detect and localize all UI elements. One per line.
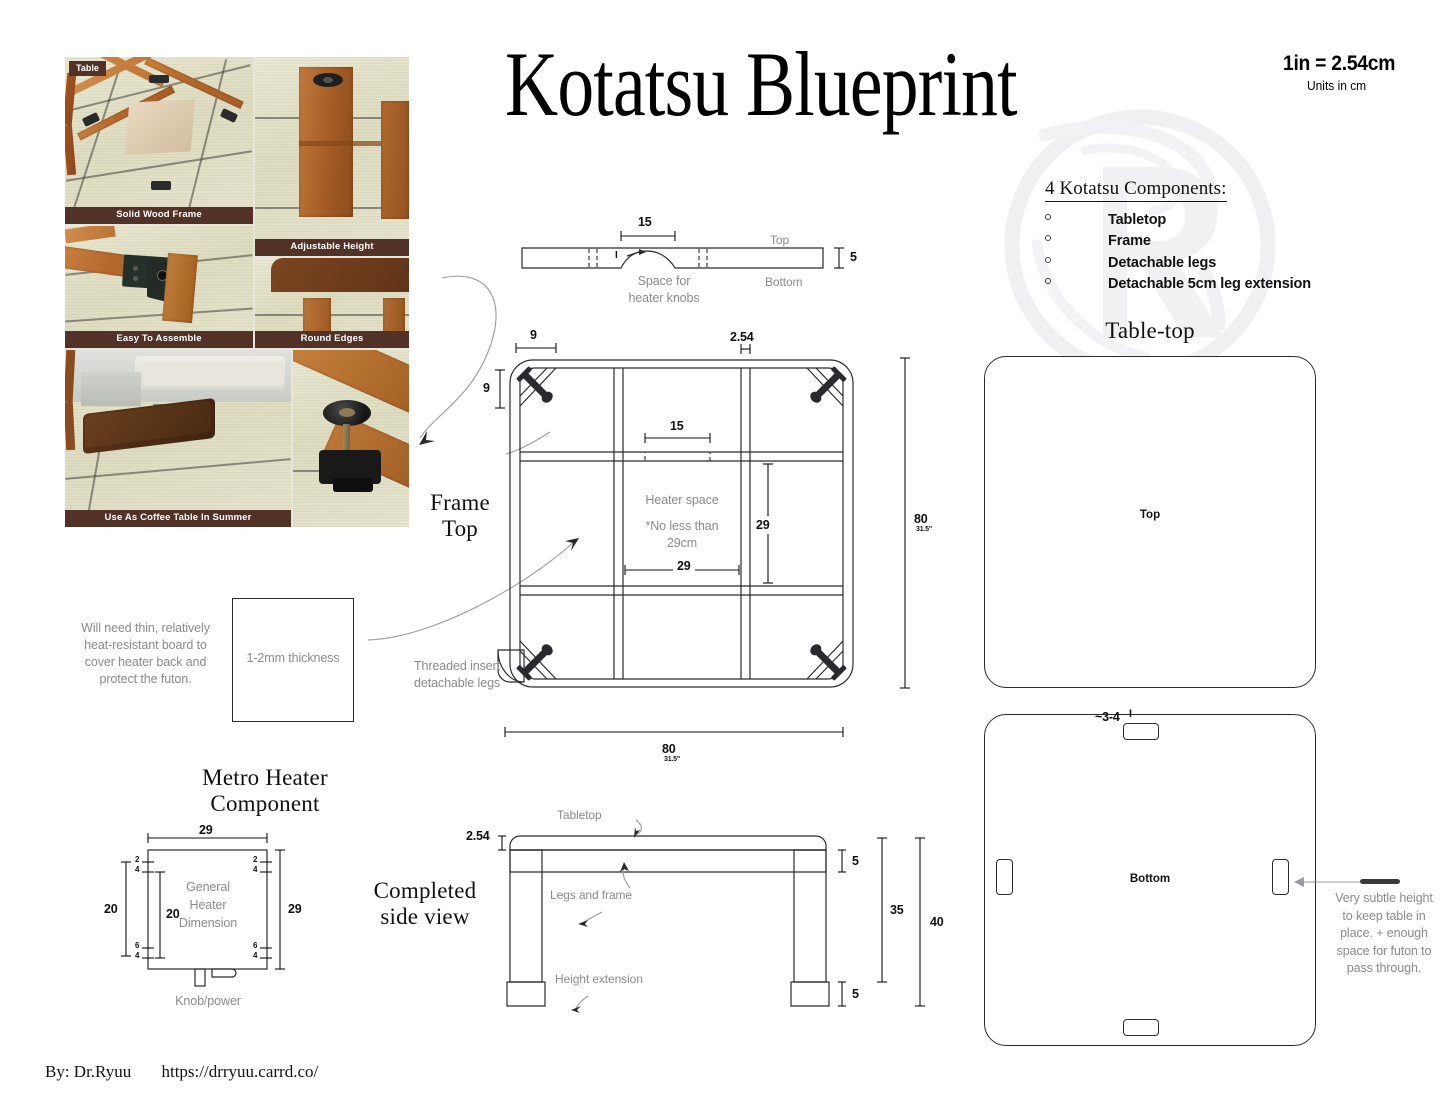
component-label: Detachable legs <box>1108 255 1216 271</box>
cutout-tick-marker: I <box>615 250 618 261</box>
heater-tick-top-1-left: 2 <box>135 855 139 864</box>
height-extension-callout-label: Height extension <box>555 972 643 986</box>
components-items: Tabletop Frame Detachable legs Detachabl… <box>1045 210 1311 295</box>
frame-cross-section-drawing: 15 5 Top Bottom Space for heater knobs I <box>505 215 895 320</box>
threaded-insert-note: Threaded insert detachable legs <box>414 658 524 692</box>
heater-heading-line1: Metro Heater <box>130 765 400 791</box>
knob-gap-dim: 15 <box>670 419 684 433</box>
photo-coffee-table-summer: Use As Coffee Table In Summer <box>65 350 291 527</box>
heater-width-dim: 29 <box>673 559 695 573</box>
stop-block-note: Very subtle height to keep table in plac… <box>1330 890 1438 978</box>
bullet-icon <box>1045 278 1051 284</box>
heater-heading-line2: Component <box>130 791 400 817</box>
components-list-block: 4 Kotatsu Components: Tabletop Frame Det… <box>1045 178 1311 295</box>
side-view-heading: Completed side view <box>355 878 495 930</box>
heater-knob-note-line1: Space for <box>609 273 719 290</box>
thickness-dim: 5 <box>850 250 857 264</box>
threaded-insert-note-line1: Threaded insert <box>414 658 524 675</box>
bullet-icon <box>1045 235 1051 241</box>
blueprint-page: Kotatsu Blueprint 1in = 2.54cm Units in … <box>0 0 1447 1117</box>
heater-top-dim: 29 <box>199 823 213 837</box>
threaded-insert-note-line2: detachable legs <box>414 675 524 692</box>
heater-tick-bottom-1-right: 6 <box>253 941 257 950</box>
corner-vertical-dim: 9 <box>483 381 490 395</box>
corner-horizontal-dim: 9 <box>530 328 537 342</box>
heater-space-note-line2: 29cm <box>628 535 736 552</box>
stop-block-height-marker: I <box>1129 708 1132 720</box>
tabletop-thickness-dim: 2.54 <box>466 829 490 843</box>
stop-block-bottom <box>1123 1019 1159 1036</box>
bullet-icon <box>1045 257 1051 263</box>
cross-section-bottom-label: Bottom <box>765 275 802 289</box>
heater-center-line2: Heater <box>173 896 243 914</box>
photo-easy-to-assemble: Easy To Assemble <box>65 226 253 348</box>
component-item: Detachable legs <box>1045 253 1311 274</box>
page-title: Kotatsu Blueprint <box>505 38 1017 130</box>
heater-space-label: Heater space <box>632 492 732 509</box>
photo-caption: Adjustable Height <box>255 239 409 256</box>
heater-dimension-drawing: 29 29 20 20 2 4 6 4 2 4 6 4 General Heat… <box>100 830 330 1020</box>
heat-resistant-board-note: Will need thin, relatively heat-resistan… <box>78 620 213 688</box>
footer-url[interactable]: https://drryuu.carrd.co/ <box>161 1062 318 1081</box>
footer-credit: By: Dr.Ryuu https://drryuu.carrd.co/ <box>45 1062 344 1082</box>
heater-center-label: General Heater Dimension <box>173 878 243 932</box>
collage-tag: Table <box>69 61 106 76</box>
total-height-dim: 40 <box>930 915 944 929</box>
heater-knob-note: Space for heater knobs <box>609 273 719 307</box>
component-label: Detachable 5cm leg extension <box>1108 276 1311 292</box>
overall-width-dim-inches: 31.5" <box>657 756 687 763</box>
photo-leg-knob-detail <box>293 350 409 527</box>
component-label: Tabletop <box>1108 212 1166 228</box>
tabletop-top-view: Top <box>984 356 1316 688</box>
tabletop-heading: Table-top <box>1050 318 1250 344</box>
overall-width-dim-value: 80 <box>662 742 676 756</box>
component-item: Frame <box>1045 231 1311 252</box>
heat-board-thickness-label: 1-2mm thickness <box>233 650 353 667</box>
legs-frame-callout-label: Legs and frame <box>550 888 632 902</box>
tabletop-bottom-label: Bottom <box>985 873 1315 885</box>
heater-left-outer-dim: 20 <box>104 902 118 916</box>
frame-top-drawing: 9 9 2.54 15 29 29 80 31.5" Heater space … <box>480 330 950 770</box>
component-label: Frame <box>1108 233 1151 249</box>
heater-knob-power-label: Knob/power <box>148 993 268 1010</box>
footer-author: By: Dr.Ryuu <box>45 1062 131 1081</box>
component-item: Tabletop <box>1045 210 1311 231</box>
frame-overall-width-dim: 80 31.5" <box>495 720 875 770</box>
stop-block-height-dim: ~3-4 I <box>1095 706 1175 730</box>
heater-tick-top-2-left: 4 <box>135 865 139 874</box>
photo-solid-wood-frame: Solid Wood Frame Table <box>65 57 253 224</box>
side-view-heading-line2: side view <box>355 904 495 930</box>
heater-tick-bottom-2-right: 4 <box>253 951 257 960</box>
cross-section-top-label: Top <box>770 233 789 247</box>
stop-block-left <box>996 859 1013 895</box>
heater-knob-note-line2: heater knobs <box>609 290 719 307</box>
scale-conversion-text: 1in = 2.54cm <box>1283 52 1395 76</box>
apron-dim: 5 <box>852 854 859 868</box>
photo-adjustable-height: Adjustable Height <box>255 57 409 256</box>
component-item: Detachable 5cm leg extension <box>1045 274 1311 295</box>
leg-height-dim: 35 <box>890 903 904 917</box>
photo-caption: Easy To Assemble <box>65 331 253 348</box>
components-heading: 4 Kotatsu Components: <box>1045 178 1227 202</box>
rail-thickness-dim: 2.54 <box>730 330 754 344</box>
heater-center-line1: General <box>173 878 243 896</box>
heater-center-line3: Dimension <box>173 914 243 932</box>
units-note-text: Units in cm <box>1307 78 1397 93</box>
heater-tick-bottom-1-left: 6 <box>135 941 139 950</box>
heater-component-heading: Metro Heater Component <box>130 765 400 817</box>
overall-vertical-dim: 80 <box>914 512 928 526</box>
photo-caption: Use As Coffee Table In Summer <box>65 510 291 527</box>
photo-caption: Round Edges <box>255 331 409 348</box>
side-view-drawing: 2.54 5 5 35 40 Tabletop Legs and frame H… <box>490 800 960 1020</box>
side-view-heading-line1: Completed <box>355 878 495 904</box>
stop-block-height-value: ~3-4 <box>1095 710 1120 724</box>
photo-caption: Solid Wood Frame <box>65 207 253 224</box>
heater-right-dim: 29 <box>288 902 302 916</box>
heater-tick-top-1-right: 2 <box>253 855 257 864</box>
heater-space-note-line1: *No less than <box>628 518 736 535</box>
photo-round-edges: Round Edges <box>255 258 409 348</box>
heater-tick-top-2-right: 4 <box>253 865 257 874</box>
heater-height-dim: 29 <box>756 516 770 534</box>
cutout-width-dim: 15 <box>638 215 652 229</box>
tabletop-callout-label: Tabletop <box>557 808 602 822</box>
tabletop-top-label: Top <box>985 509 1315 521</box>
tabletop-bottom-view: Bottom <box>984 714 1316 1046</box>
extension-dim: 5 <box>852 987 859 1001</box>
heater-tick-bottom-2-left: 4 <box>135 951 139 960</box>
bullet-icon <box>1045 214 1051 220</box>
scale-conversion-note: 1in = 2.54cm Units in cm <box>1283 52 1405 93</box>
heat-board-thickness-box: 1-2mm thickness <box>232 598 354 722</box>
overall-vertical-dim-inches: 31.5" <box>911 526 937 533</box>
heater-space-note: *No less than 29cm <box>628 518 736 552</box>
product-photo-collage: Solid Wood Frame Table Adjustable Height <box>65 57 409 527</box>
